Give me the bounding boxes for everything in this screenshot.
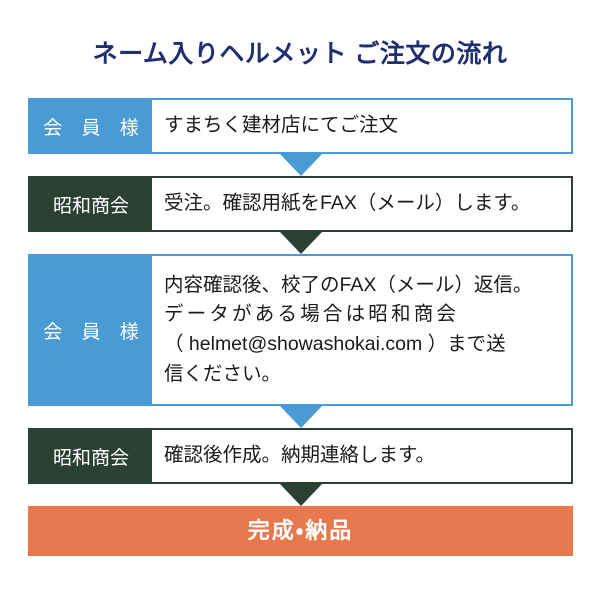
flow-steps-container: 会 員 様 すまちく建材店にてご注文 昭和商会 受注。確認用紙をFAX（メール）… [28, 98, 573, 556]
arrow-down-icon-2 [28, 232, 573, 254]
flow-step-1: 会 員 様 すまちく建材店にてご注文 [28, 98, 573, 154]
flow-step-2-label: 昭和商会 [30, 178, 152, 230]
flow-step-4-line-1: 確認後作成。納期連絡します。 [164, 441, 565, 471]
flow-step-1-body: すまちく建材店にてご注文 [152, 100, 571, 152]
flow-step-2: 昭和商会 受注。確認用紙をFAX（メール）します。 [28, 176, 573, 232]
flow-step-3-line-1: 内容確認後、校了のFAX（メール）返信。 [164, 271, 565, 301]
flow-step-3-label: 会 員 様 [30, 256, 152, 404]
flow-step-4: 昭和商会 確認後作成。納期連絡します。 [28, 428, 573, 484]
flow-step-2-line-1: 受注。確認用紙をFAX（メール）します。 [164, 189, 565, 219]
flow-step-3-line-4: 信ください。 [164, 360, 565, 390]
flow-step-3-line-3-email: （ helmet@showashokai.com ）まで送 [164, 330, 565, 360]
flow-step-4-body: 確認後作成。納期連絡します。 [152, 430, 571, 482]
flow-step-3-line-2: データがある場合は昭和商会 [164, 300, 565, 330]
final-delivery-banner: 完成・納品 [28, 506, 573, 556]
arrow-down-icon-1 [28, 154, 573, 176]
flow-step-2-body: 受注。確認用紙をFAX（メール）します。 [152, 178, 571, 230]
arrow-down-icon-4 [28, 484, 573, 506]
arrow-down-icon-3 [28, 406, 573, 428]
order-flow-diagram: ネーム入りヘルメット ご注文の流れ 会 員 様 すまちく建材店にてご注文 昭和商… [0, 0, 600, 600]
flow-step-4-label: 昭和商会 [30, 430, 152, 482]
flow-step-1-line-1: すまちく建材店にてご注文 [164, 111, 565, 141]
page-title: ネーム入りヘルメット ご注文の流れ [0, 34, 600, 70]
flow-step-1-label: 会 員 様 [30, 100, 152, 152]
flow-step-3-body: 内容確認後、校了のFAX（メール）返信。 データがある場合は昭和商会 （ hel… [152, 256, 571, 404]
flow-step-3: 会 員 様 内容確認後、校了のFAX（メール）返信。 データがある場合は昭和商会… [28, 254, 573, 406]
